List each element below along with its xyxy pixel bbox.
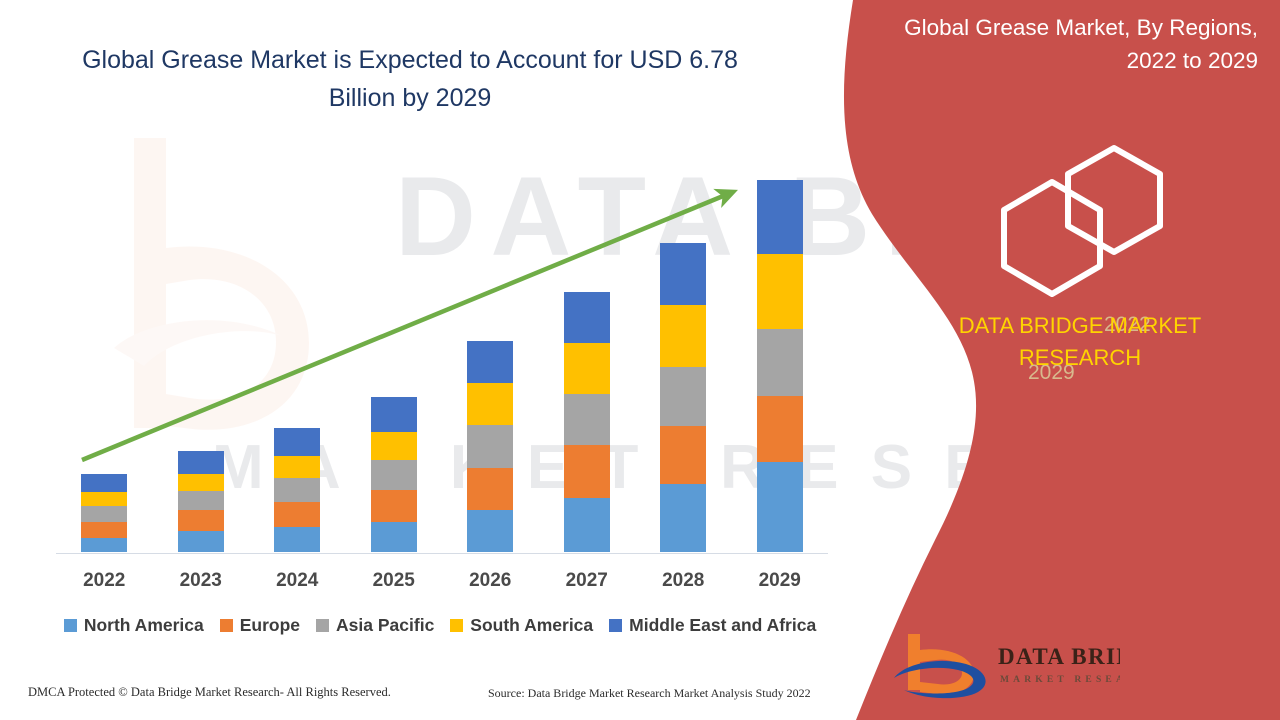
x-axis-tick: 2023 (153, 570, 249, 592)
legend-swatch-icon (609, 619, 622, 632)
legend-swatch-icon (450, 619, 463, 632)
x-axis-tick: 2025 (346, 570, 442, 592)
bar-segment (178, 531, 224, 552)
year-hexagon-group: 2022 2029 (988, 142, 1188, 302)
chart-plot-area (56, 150, 828, 552)
bar-segment (178, 491, 224, 510)
bar-segment (371, 522, 417, 552)
legend-label: North America (84, 615, 204, 636)
legend-swatch-icon (316, 619, 329, 632)
chart-legend: North AmericaEuropeAsia PacificSouth Ame… (40, 615, 840, 636)
bar-segment (274, 428, 320, 456)
x-axis-tick: 2022 (56, 570, 152, 592)
bar-group (346, 150, 442, 552)
bar-segment (371, 490, 417, 522)
bar-group (249, 150, 345, 552)
page-title: Global Grease Market is Expected to Acco… (60, 42, 760, 117)
bar-segment (757, 396, 803, 462)
brand-name: DATA BRIDGE MARKET RESEARCH (910, 310, 1250, 374)
bar-segment (660, 243, 706, 305)
bar-segment (467, 383, 513, 425)
bar-segment (660, 484, 706, 552)
bar-segment (757, 254, 803, 329)
bar-segment (660, 367, 706, 426)
data-bridge-logo-icon: DATA BRIDGE MARKET RESEARCH (890, 630, 1120, 702)
legend-item[interactable]: Europe (220, 615, 300, 636)
bar-segment (467, 468, 513, 510)
x-axis-line (56, 553, 828, 554)
x-axis-tick: 2028 (635, 570, 731, 592)
legend-swatch-icon (220, 619, 233, 632)
legend-item[interactable]: North America (64, 615, 204, 636)
bar-group (56, 150, 152, 552)
hexagon-outlines-icon (988, 142, 1188, 302)
legend-label: Asia Pacific (336, 615, 434, 636)
bar-segment (81, 492, 127, 506)
stacked-bar (178, 451, 224, 552)
legend-label: South America (470, 615, 593, 636)
bar-segment (274, 478, 320, 502)
bar-group (635, 150, 731, 552)
stacked-bar (274, 428, 320, 552)
bar-segment (564, 394, 610, 445)
footer-source: Source: Data Bridge Market Research Mark… (488, 686, 811, 701)
legend-item[interactable]: Asia Pacific (316, 615, 434, 636)
panel-title: Global Grease Market, By Regions, 2022 t… (890, 12, 1270, 77)
bar-segment (564, 343, 610, 394)
bar-segment (660, 426, 706, 484)
bar-segment (564, 292, 610, 343)
x-axis-tick: 2024 (249, 570, 345, 592)
bar-segment (178, 451, 224, 474)
legend-label: Europe (240, 615, 300, 636)
bar-segment (467, 510, 513, 552)
stacked-bar (564, 292, 610, 552)
bar-segment (467, 425, 513, 468)
legend-label: Middle East and Africa (629, 615, 816, 636)
stacked-bar-chart (56, 150, 828, 562)
bar-segment (371, 432, 417, 460)
x-axis-tick: 2027 (539, 570, 635, 592)
bar-group (539, 150, 635, 552)
bar-segment (371, 397, 417, 432)
x-axis-tick: 2026 (442, 570, 538, 592)
bar-segment (757, 329, 803, 396)
bar-segment (757, 180, 803, 254)
bar-group (732, 150, 828, 552)
footer-copyright: DMCA Protected © Data Bridge Market Rese… (28, 685, 391, 700)
bar-segment (274, 502, 320, 527)
bar-segment (81, 522, 127, 538)
logo-primary-text: DATA BRIDGE (998, 644, 1120, 669)
red-panel-content: Global Grease Market, By Regions, 2022 t… (880, 0, 1280, 720)
infographic-page: DATA BRIDGE MARKET RESEARCH Global Greas… (0, 0, 1280, 720)
stacked-bar (757, 180, 803, 552)
stacked-bar (81, 474, 127, 552)
x-axis-labels: 20222023202420252026202720282029 (56, 570, 828, 592)
bar-segment (371, 460, 417, 490)
bar-segment (81, 506, 127, 522)
bar-group (153, 150, 249, 552)
legend-swatch-icon (64, 619, 77, 632)
stacked-bar (660, 243, 706, 552)
bar-group (442, 150, 538, 552)
legend-item[interactable]: South America (450, 615, 593, 636)
bar-segment (757, 462, 803, 552)
x-axis-tick: 2029 (732, 570, 828, 592)
bar-segment (178, 474, 224, 491)
bar-segment (467, 341, 513, 383)
stacked-bar (371, 397, 417, 552)
bar-segment (81, 474, 127, 492)
bar-segment (564, 498, 610, 552)
stacked-bar (467, 341, 513, 552)
bar-segment (660, 305, 706, 367)
bar-segment (274, 456, 320, 478)
bar-segment (81, 538, 127, 552)
bar-segment (178, 510, 224, 531)
bar-segment (274, 527, 320, 552)
bar-segment (564, 445, 610, 498)
logo-secondary-text: MARKET RESEARCH (1000, 675, 1120, 685)
legend-item[interactable]: Middle East and Africa (609, 615, 816, 636)
